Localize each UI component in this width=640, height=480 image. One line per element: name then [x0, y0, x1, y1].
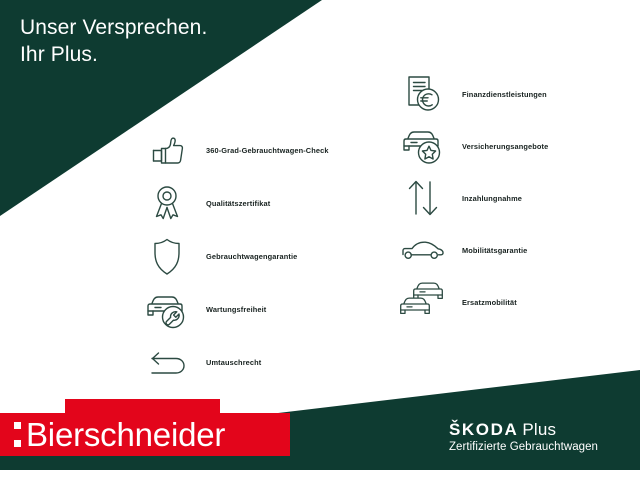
feature-label: Gebrauchtwagengarantie: [206, 252, 297, 261]
feature-item: Versicherungsangebote: [396, 120, 548, 172]
feature-column-left: 360-Grad-Gebrauchtwagen-Check Qualitätsz…: [140, 124, 329, 389]
feature-label: Umtauschrecht: [206, 358, 261, 367]
award-rosette-icon: [140, 179, 194, 229]
feature-item: 360-Grad-Gebrauchtwagen-Check: [140, 124, 329, 177]
page-title: Unser Versprechen. Ihr Plus.: [20, 14, 207, 68]
feature-item: Umtauschrecht: [140, 336, 329, 389]
feature-item: Wartungsfreiheit: [140, 283, 329, 336]
dealer-logo-colon-mark: [14, 422, 21, 447]
feature-label: 360-Grad-Gebrauchtwagen-Check: [206, 146, 329, 155]
feature-label: Versicherungsangebote: [462, 142, 548, 151]
car-star-icon: [396, 121, 450, 171]
feature-label: Finanzdienstleistungen: [462, 90, 547, 99]
headline-line-1: Unser Versprechen.: [20, 14, 207, 41]
feature-column-right: Finanzdienstleistungen Versicherungsange…: [396, 68, 548, 328]
document-euro-icon: [396, 69, 450, 119]
feature-item: Mobilitätsgarantie: [396, 224, 548, 276]
feature-item: Inzahlungnahme: [396, 172, 548, 224]
feature-label: Ersatzmobilität: [462, 298, 517, 307]
car-wrench-icon: [140, 285, 194, 335]
two-cars-icon: [396, 277, 450, 327]
feature-item: Gebrauchtwagengarantie: [140, 230, 329, 283]
logo-dot-lower: [14, 440, 21, 447]
feature-label: Inzahlungnahme: [462, 194, 522, 203]
feature-item: Qualitätszertifikat: [140, 177, 329, 230]
arrows-up-down-icon: [396, 173, 450, 223]
thumbs-up-icon: [140, 126, 194, 176]
feature-label: Mobilitätsgarantie: [462, 246, 527, 255]
skoda-wordmark: ŠKODA: [449, 420, 518, 439]
feature-item: Ersatzmobilität: [396, 276, 548, 328]
skoda-wordmark-row: ŠKODAPlus: [449, 420, 598, 439]
skoda-plus-branding: ŠKODAPlus Zertifizierte Gebrauchtwagen: [449, 420, 598, 454]
skoda-subtitle: Zertifizierte Gebrauchtwagen: [449, 440, 598, 454]
feature-label: Qualitätszertifikat: [206, 199, 270, 208]
promo-banner: Unser Versprechen. Ihr Plus. 360-Grad-Ge…: [0, 0, 640, 480]
skoda-plus-label: Plus: [522, 420, 556, 439]
dealer-name: Bierschneider: [26, 417, 225, 452]
shield-icon: [140, 232, 194, 282]
car-side-icon: [396, 225, 450, 275]
return-arrow-icon: [140, 338, 194, 388]
feature-item: Finanzdienstleistungen: [396, 68, 548, 120]
logo-dot-upper: [14, 422, 21, 429]
feature-label: Wartungsfreiheit: [206, 305, 266, 314]
headline-line-2: Ihr Plus.: [20, 41, 207, 68]
